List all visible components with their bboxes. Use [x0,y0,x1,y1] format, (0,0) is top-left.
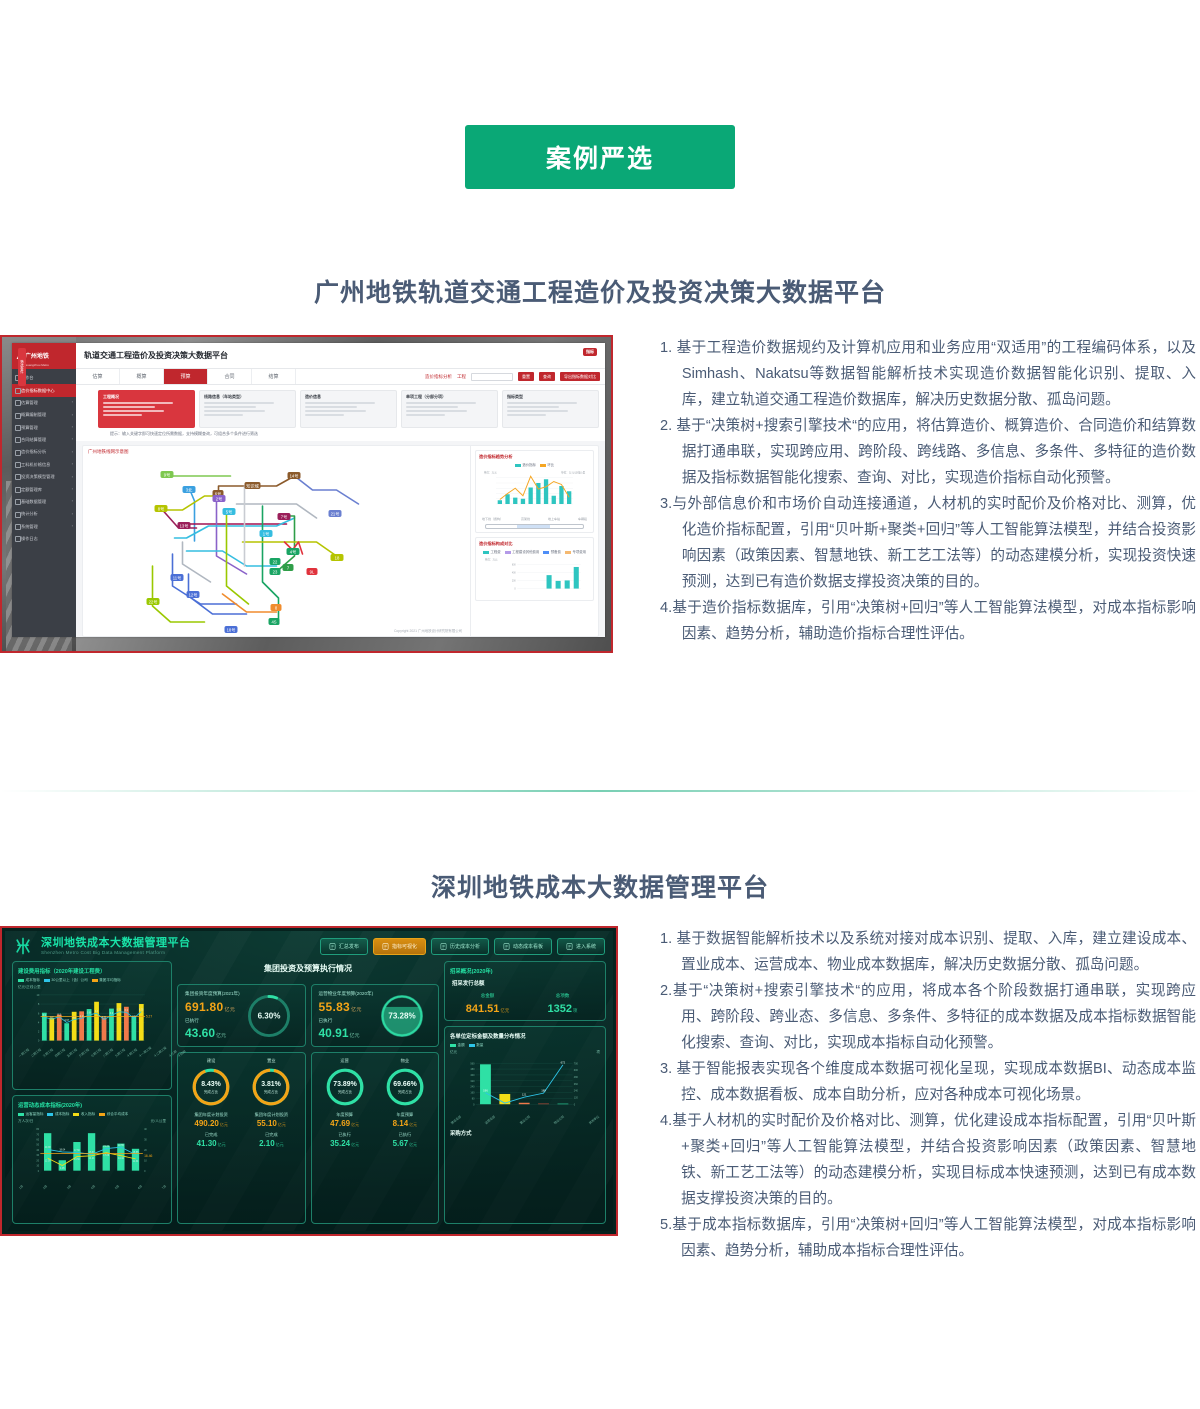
export-button[interactable]: 导出指标数据对比 [560,372,600,381]
guangzhou-platform-screenshot: ▲ 广州地铁 Guangzhou Metro 工作台造价指标数据中心估算管理›概… [0,335,613,653]
chart1-title: 造价指标趋势分析 [479,454,590,460]
svg-text:22.55: 22.55 [118,1145,125,1147]
gauge-group-operation: 运营73.89%完成占比年度预算47.69亿元已执行35.24亿元物业69.66… [311,1052,440,1224]
gauge-unit-1: 亿元 [409,1122,417,1127]
section2-bullet-4: 4.基于人材机的实时配价及价格对比、测算，优化建设成本指标配置，引用“贝叶斯+聚… [660,1108,1196,1212]
dash-chart3-legend-item-1: 数量 [469,1043,484,1048]
svg-text:9L: 9L [310,570,315,575]
svg-text:320: 320 [470,1080,475,1083]
progress-ring: 6.30% [246,993,292,1039]
dashboard-nav-1[interactable]: 指标可视化 [373,938,426,955]
chevron-right-icon: › [72,511,73,516]
dash-chart2-avg-label: 16.46 [144,1154,152,1158]
svg-text:6: 6 [38,1011,40,1015]
dashboard-nav-0[interactable]: 汇总发布 [320,938,368,955]
sidebar-item-label: 操作日志 [21,536,38,541]
gauge-label-1: 年度预算 [377,1112,433,1118]
sidebar-item-5[interactable]: 合同结算管理› [12,434,76,446]
dashboard-nav-label: 汇总发布 [339,943,359,950]
gauge-unit-2: 亿元 [218,1142,226,1147]
svg-text:18: 18 [335,556,340,561]
procurement-items: 总金额841.51亿元总项数1352项 [450,993,600,1015]
sidebar-item-label: 投资决策模型管理 [21,474,55,479]
svg-text:672: 672 [561,1060,566,1064]
kpi-text: 集团投资年度预算(2021年)691.80亿元已执行43.60亿元 [185,991,240,1040]
sidebar-item-6[interactable]: 造价指标分析› [12,446,76,458]
sidebar-item-label: 工料机价格信息 [21,462,50,467]
legend-swatch [47,1113,53,1116]
cost-trend-chart-card: 造价指标趋势分析 造价指标环比 单位：万元 单位：万元/正线公里 地下线（盾构）… [475,450,594,533]
gauge-cell-3: 物业69.66%完成占比年度预算8.14亿元已执行5.67亿元 [377,1058,433,1218]
chart1-scrollbar[interactable] [485,524,584,529]
app-header-title: 轨道交通工程造价及投资决策大数据平台 [84,350,228,361]
left-chart2-legend: 运客量指标成本指标收入指标综合平均成本 [18,1112,166,1117]
filter-card-title: 造价信息 [305,394,392,400]
svg-text:0: 0 [514,588,516,590]
gauge-label-1: 集团年度计划投资 [243,1112,299,1118]
svg-text:73.28%: 73.28% [388,1011,415,1020]
procurement-item-1: 总项数1352项 [525,993,600,1015]
legend-swatch [92,979,98,982]
filter-placeholder-line [204,406,256,408]
dashboard-root: 深圳地铁成本大数据管理平台 Shenzhen Metro Cost Big Da… [5,931,613,1231]
svg-text:知识城: 知识城 [246,483,259,490]
dashboard-nav-3[interactable]: 动态成本看板 [494,938,552,955]
dashboard-left-column: 建设费用指标（2020年建设工程费） 成本指标30公里以上（含）公司集团平均指标… [12,961,172,1224]
svg-text:73.89%: 73.89% [333,1081,356,1088]
gauge-name: 物业 [377,1058,433,1064]
chart1-xtick-1: 高架线 [521,517,530,521]
legend-swatch [540,464,546,467]
chart-column: 造价指标趋势分析 造价指标环比 单位：万元 单位：万元/正线公里 地下线（盾构）… [470,446,598,636]
operation-dynamic-cost-panel: 运营动态成本指标(2020年) 运客量指标成本指标收入指标综合平均成本 万人次/… [12,1095,172,1224]
gauge-value-1: 55.10亿元 [243,1119,299,1128]
svg-text:30: 30 [36,1154,39,1157]
section1-bullet-4: 4.基于造价指标数据库，引用“决策树+回归”等人工智能算法模型，对成本指标影响因… [660,595,1196,647]
dashboard-body: 建设费用指标（2020年建设工程费） 成本指标30公里以上（含）公司集团平均指标… [5,961,613,1231]
dash-chart2-xtick-6: 7月 [161,1184,167,1190]
sidebar-item-11[interactable]: 统计分析› [12,508,76,520]
dash-chart1-legend-item-1: 30公里以上（含）公司 [44,978,88,983]
tab-1[interactable]: 概算 [120,369,164,384]
filter-side-tab[interactable]: 筛选条件 [18,348,26,386]
dashboard-nav-label: 动态成本看板 [513,943,543,950]
chart1-legend-item-1: 环比 [540,462,554,467]
dash-chart2-legend-item-2: 收入指标 [73,1112,95,1117]
chart1-legend: 造价指标环比 [479,462,590,467]
filter-card-3[interactable]: 单项工程（分部分项） [401,390,498,428]
dashboard-nav[interactable]: 汇总发布指标可视化历史成本分析动态成本看板进入系统 [320,938,605,955]
sidebar-item-3[interactable]: 概算编制管理› [12,409,76,421]
chevron-right-icon: › [72,461,73,466]
filter-placeholder-line [204,414,243,416]
gauge-unit-2: 亿元 [276,1142,284,1147]
kpi-ring: 73.28% [379,993,425,1039]
legend-swatch [565,551,571,554]
gauge-unit-1: 亿元 [278,1122,286,1127]
dash-chart2-xtick-2: 3月 [66,1184,72,1190]
svg-text:6.30%: 6.30% [257,1011,280,1020]
logo-subtitle: Guangzhou Metro [25,363,49,367]
gauge-ring: 8.43%完成占比 [190,1066,232,1108]
gauge-ring: 69.66%完成占比 [384,1066,426,1108]
sidebar-item-label: 造价指标分析 [21,449,46,454]
dashboard-nav-label: 历史成本分析 [450,943,480,950]
legend-swatch [73,1113,79,1116]
svg-text:20: 20 [144,1149,147,1152]
svg-text:3.81%: 3.81% [262,1081,282,1088]
dash-chart2-legend-item-1: 成本指标 [47,1112,69,1117]
gauge-label-2: 已完成 [243,1132,299,1138]
gauge-label-2: 已执行 [377,1132,433,1138]
filter-placeholder-line [103,414,142,416]
section2-bullet-2: 2.基于“决策树+搜索引擎技术“的应用，将成本各个阶段数据打通串联，实现跨应用、… [660,978,1196,1056]
logo-name: 广州地铁 [25,354,49,360]
svg-text:480: 480 [470,1068,475,1071]
svg-text:600: 600 [574,1069,579,1072]
shenzhen-metro-logo-icon [13,936,33,956]
dash-chart2-xtick-3: 4月 [90,1184,96,1190]
svg-text:80: 80 [472,1097,475,1100]
section1-bullets: 1. 基于工程造价数据规约及计算机应用和业务应用“双适用”的工程编码体系，以及S… [660,335,1196,647]
section1-bullet-2: 2. 基于“决策树+搜索引擎技术“的应用，将估算造价、概算造价、合同造价和结算数… [660,413,1196,491]
sidebar-menu[interactable]: 工作台造价指标数据中心估算管理›概算编制管理›预算管理›合同结算管理›造价指标分… [12,369,76,545]
gauge-group-investment: 建设8.43%完成占比集团年度计划投资490.20亿元已完成41.30亿元置业3… [177,1052,306,1224]
svg-text:18.04: 18.04 [59,1150,66,1152]
gauge-cell-0: 建设8.43%完成占比集团年度计划投资490.20亿元已完成41.30亿元 [183,1058,239,1218]
chevron-right-icon: › [72,486,73,491]
svg-text:700: 700 [574,1062,579,1065]
svg-text:50: 50 [36,1144,39,1147]
filter-placeholder-line [507,406,559,408]
legend-swatch [515,464,521,467]
chevron-right-icon: › [72,523,73,528]
filter-placeholder-line [406,414,445,416]
造价-link[interactable]: 造价指标分析 [425,374,452,380]
kpi-value: 55.83亿元 [319,1000,374,1014]
kpi-row: 集团投资年度预算(2021年)691.80亿元已执行43.60亿元6.30%运营… [177,984,439,1047]
filter-placeholder-line [305,402,375,404]
query-button[interactable]: 查询 [539,372,555,381]
center-title: 集团投资及预算执行情况 [177,963,439,974]
left-chart1-legend: 成本指标30公里以上（含）公司集团平均指标 [18,978,166,983]
filter-card-2[interactable]: 造价信息 [300,390,397,428]
gauge-value-1: 8.14亿元 [377,1119,433,1128]
analysis-icon [440,943,447,950]
svg-text:22: 22 [273,560,278,565]
dashboard-middle-column: 集团投资及预算执行情况 集团投资年度预算(2021年)691.80亿元已执行43… [177,961,439,1224]
legend-swatch [543,551,549,554]
sidebar-item-7[interactable]: 工料机价格信息› [12,459,76,471]
filter-placeholder-line [406,410,467,412]
procurement-item-unit: 亿元 [500,1008,509,1013]
filter-placeholder-line [103,410,164,412]
gauge-value-1: 47.69亿元 [317,1119,373,1128]
second-link[interactable]: 工程 [457,374,466,380]
left-chart2-title: 运营动态成本指标(2020年) [18,1101,166,1109]
gauge-label-1: 集团年度计划投资 [183,1112,239,1118]
dashboard-nav-2[interactable]: 历史成本分析 [431,938,489,955]
sidebar-item-label: 估算管理 [21,400,38,405]
map-and-charts-card: 广州地铁线网示意图 [82,445,599,637]
dashboard-header: 深圳地铁成本大数据管理平台 Shenzhen Metro Cost Big Da… [5,931,613,961]
svg-text:23: 23 [273,570,278,575]
dash-chart2-xtick-1: 2月 [42,1184,48,1190]
chart2-legend-item-1: 工程建设其他费用 [505,549,540,554]
metro-network-map: 9号 3北 6号 知识城 14号 8号 13号 2号 5号 7号 1号 [83,446,470,636]
filter-placeholder-line [103,406,155,408]
right-chart-xticks: 建设总部运营总部置业公司物业公司其他单位 [450,1121,600,1126]
gauge-unit-2: 亿元 [351,1142,359,1147]
stage-tabs[interactable]: 估算概算预算合同结算造价指标分析工程重置查询导出指标数据对比 [76,369,605,385]
kpi-unit: 亿元 [225,1007,236,1013]
sidebar-item-9[interactable]: 定额管理库› [12,483,76,495]
left-chart1-xticks: 一期工程二期工程三期工程四期工程五期工程六期工程七期工程八期工程九期工程十期工程… [18,1054,166,1059]
filter-placeholder-line [507,402,577,404]
svg-text:6.35: 6.35 [139,1008,144,1011]
section2: 深圳地铁成本大数据管理平台 Shenzhen Metro Cost Big Da… [0,926,1200,1246]
badge-container: 案例严选 [0,0,1200,189]
chevron-right-icon: › [72,399,73,404]
sidebar-item-label: 预算管理 [21,425,38,430]
kpi-sub-value: 43.60亿元 [185,1026,240,1040]
dash-chart1-legend-item-2: 集团平均指标 [92,978,121,983]
progress-ring: 73.28% [379,993,425,1039]
left-chart1-title: 建设费用指标（2020年建设工程费） [18,967,166,975]
filter-card-1[interactable]: 线路信息（车站类型） [199,390,296,428]
chart2-plot: 单位：万元 6004002000 [479,556,590,592]
svg-text:完成占比: 完成占比 [398,1089,413,1094]
app-main: 轨道交通工程造价及投资决策大数据平台 指标 估算概算预算合同结算造价指标分析工程… [76,343,605,637]
chart1-xtick-0: 地下线（盾构） [482,517,503,521]
chart1-xticks: 地下线（盾构）高架线地上车站车辆段 [479,516,590,521]
gauge-label-2: 已执行 [317,1132,373,1138]
svg-text:400: 400 [512,572,516,574]
dashboard-nav-4[interactable]: 进入系统 [557,938,605,955]
sidebar-item-label: 系统管理 [21,524,38,529]
sidebar-item-10[interactable]: 基础数据管理› [12,496,76,508]
report-icon [329,943,336,950]
reset-button[interactable]: 重置 [518,372,534,381]
case-selection-badge: 案例严选 [465,125,735,189]
chevron-right-icon: › [72,436,73,441]
tab-0[interactable]: 估算 [76,369,120,384]
procurement-method-label: 采购方式 [450,1129,600,1137]
metro-map-area[interactable]: 广州地铁线网示意图 [83,446,470,636]
svg-text:4.61: 4.61 [102,1016,107,1019]
kpi-ring: 6.30% [246,993,292,1039]
chart1-plot: 单位：万元 单位：万元/正线公里 [479,469,590,511]
sidebar-item-13[interactable]: 操作日志 [12,533,76,545]
right-chart-plot: 5604804003202401608007006004803602401200… [450,1055,600,1119]
procurement-item-value: 1352项 [525,1003,600,1015]
search-input[interactable] [471,373,513,381]
procurement-title: 招采概况(2020年) [450,967,600,975]
legend-swatch [505,551,511,554]
svg-text:17.50: 17.50 [74,1150,81,1152]
svg-text:15.67: 15.67 [89,1152,96,1154]
kpi-label: 集团投资年度预算(2021年) [185,991,240,997]
svg-text:15.55: 15.55 [133,1152,140,1154]
section1-bullet-3: 3.与外部信息价和市场价自动连接通道，人材机的实时配价及价格对比、测算，优化造价… [660,491,1196,595]
chart1-xtick-3: 车辆段 [578,517,587,521]
sidebar-item-2[interactable]: 估算管理› [12,397,76,409]
svg-text:0: 0 [38,1039,40,1043]
shenzhen-dashboard-screenshot: 深圳地铁成本大数据管理平台 Shenzhen Metro Cost Big Da… [0,926,618,1236]
kpi-box-0: 集团投资年度预算(2021年)691.80亿元已执行43.60亿元6.30% [177,984,306,1047]
sidebar-item-label: 造价指标数据中心 [21,388,55,393]
svg-text:17.29: 17.29 [103,1155,110,1157]
dash-chart2-xtick-4: 5月 [114,1184,120,1190]
sidebar-item-1[interactable]: 造价指标数据中心 [12,384,76,396]
tab-3[interactable]: 合同 [208,369,252,384]
gauge-cell-2: 运营73.89%完成占比年度预算47.69亿元已执行35.24亿元 [317,1058,373,1218]
procurement-item-0: 总金额841.51亿元 [450,993,525,1015]
gauge-row: 建设8.43%完成占比集团年度计划投资490.20亿元已完成41.30亿元置业3… [177,1052,439,1224]
svg-text:360: 360 [574,1083,579,1086]
svg-text:4.95: 4.95 [60,1168,65,1170]
svg-text:14.44: 14.44 [118,1158,125,1160]
dash-chart2-legend-item-0: 运客量指标 [18,1112,43,1117]
kpi-label: 运营物业年度预算(2020年) [319,991,374,997]
sidebar-item-label: 基础数据管理 [21,499,46,504]
chart2-title: 造价指标构成对比 [479,541,590,547]
svg-text:30: 30 [144,1139,147,1142]
dash-chart1-avg-label: 5.27 [146,1015,153,1019]
chevron-right-icon: › [72,412,73,417]
svg-text:完成占比: 完成占比 [204,1089,219,1094]
filter-placeholder-line [305,406,357,408]
kpi-value: 691.80亿元 [185,1000,240,1014]
svg-text:0: 0 [473,1103,475,1106]
dashboard-brand-en: Shenzhen Metro Cost Big Data Management … [41,950,191,955]
chevron-right-icon: › [72,474,73,479]
app-header: 轨道交通工程造价及投资决策大数据平台 指标 [76,343,605,369]
chart2-legend-item-3: 专项费用 [565,549,586,554]
chart1-xtick-2: 地上车站 [548,517,560,521]
right-chart-legend: 金额数量 [450,1043,600,1048]
svg-text:20.38: 20.38 [45,1147,52,1149]
svg-text:240: 240 [574,1090,579,1093]
chevron-right-icon: › [72,498,73,503]
sidebar-item-label: 概算编制管理 [21,412,46,417]
cost-composition-chart-card: 造价指标构成对比 工程费工程建设其他费用预备费专项费用 单位：万元 600400… [475,537,594,601]
chart1-ylabel-right: 单位：万元/正线公里 [561,470,586,474]
dash-chart2-xtick-5: 6月 [137,1184,143,1190]
svg-text:20: 20 [36,1159,39,1162]
sidebar-item-label: 合同结算管理 [21,437,46,442]
procurement-item-label: 总项数 [525,993,600,999]
svg-text:80: 80 [36,1128,39,1131]
svg-text:69.66%: 69.66% [393,1081,416,1088]
procurement-subtitle: 招采发行总额 [452,979,600,987]
svg-text:10: 10 [144,1159,147,1162]
gauge-label-1: 年度预算 [317,1112,373,1118]
svg-text:160: 160 [470,1092,475,1095]
svg-text:4: 4 [38,1020,40,1024]
svg-text:196: 196 [483,1088,488,1092]
sidebar-item-8[interactable]: 投资决策模型管理› [12,471,76,483]
filter-card-0[interactable]: 工程概况 [98,390,195,428]
sidebar-item-4[interactable]: 预算管理› [12,422,76,434]
gauge-value-2: 35.24亿元 [317,1139,373,1148]
filter-placeholder-line [305,410,366,412]
gauge-value-2: 5.67亿元 [377,1139,433,1148]
gauge-value-2: 41.30亿元 [183,1139,239,1148]
dash-chart2-legend-item-3: 综合平均成本 [99,1112,128,1117]
section-divider [0,790,1200,792]
legend-swatch [99,1113,105,1116]
legend-swatch [483,551,489,554]
filter-card-4[interactable]: 指标类型 [502,390,599,428]
kpi-box-1: 运营物业年度预算(2020年)55.83亿元已执行40.91亿元73.28% [311,984,440,1047]
legend-swatch [450,1044,456,1047]
procurement-item-label: 总金额 [450,993,525,999]
kpi-sub-unit: 亿元 [216,1033,226,1039]
filter-placeholder-line [103,402,173,404]
svg-text:120: 120 [574,1096,579,1099]
kpi-unit: 亿元 [351,1007,362,1013]
svg-text:10: 10 [36,993,39,997]
svg-text:40: 40 [144,1128,147,1131]
tab-toolbar[interactable]: 造价指标分析工程重置查询导出指标数据对比 [425,369,605,384]
filter-card-row[interactable]: 筛选条件工程概况线路信息（车站类型）造价信息单项工程（分部分项）指标类型 [76,385,605,431]
gauge-value-2: 2.10亿元 [243,1139,299,1148]
section2-bullets: 1. 基于数据智能解析技术以及系统对接对成本识别、提取、入库，建立建设成本、置业… [660,926,1196,1264]
svg-text:21.21: 21.21 [103,1146,110,1148]
svg-text:200: 200 [512,580,516,582]
gauge-ring: 73.89%完成占比 [324,1066,366,1108]
sidebar-item-label: 定额管理库 [21,487,42,492]
gauge-label-2: 已完成 [183,1132,239,1138]
chart1-ylabel-left: 单位：万元 [484,470,497,474]
section2-title: 深圳地铁成本大数据管理平台 [0,868,1200,904]
filter-placeholder-line [406,406,458,408]
dashboard-right-column: 招采概况(2020年) 招采发行总额 总金额841.51亿元总项数1352项 各… [444,961,606,1224]
map-title: 广州地铁线网示意图 [88,449,129,455]
svg-text:12.00: 12.00 [45,1161,52,1163]
legend-swatch [469,1044,475,1047]
chart1-legend-item-0: 造价指标 [515,462,536,467]
gauge-unit-1: 亿元 [351,1122,359,1127]
kpi-sub-label: 已执行 [319,1018,374,1024]
svg-text:0: 0 [38,1170,40,1173]
dashboard-nav-label: 指标可视化 [392,943,417,950]
section1-title: 广州地铁轨道交通工程造价及投资决策大数据平台 [0,273,1200,309]
bid-distribution-panel: 各单位定标金额及数量分布情况 金额数量 亿元 项 560480400320240… [444,1026,606,1224]
tab-4[interactable]: 结算 [252,369,296,384]
svg-text:560: 560 [470,1062,475,1065]
copyright-text: Copyright 2021 广州地铁设计研究院有限公司 [394,628,462,633]
filter-placeholder-line [507,410,568,412]
sidebar-item-12[interactable]: 系统管理› [12,521,76,533]
tab-2[interactable]: 预算 [164,369,208,384]
svg-text:10: 10 [36,1165,39,1168]
svg-text:189: 189 [541,1089,546,1093]
board-icon [503,943,510,950]
svg-text:8.43%: 8.43% [201,1081,221,1088]
svg-text:400: 400 [470,1074,475,1077]
gauge-cell-1: 置业3.81%完成占比集团年度计划投资55.10亿元已完成2.10亿元 [243,1058,299,1218]
chevron-right-icon: › [72,424,73,429]
dash-chart1-legend-item-0: 成本指标 [18,978,40,983]
dashboard-nav-label: 进入系统 [576,943,596,950]
svg-text:8: 8 [38,1002,40,1006]
filter-card-title: 单项工程（分部分项） [406,394,493,400]
legend-swatch [18,1113,24,1116]
svg-text:6.33: 6.33 [117,1008,122,1011]
kpi-text: 运营物业年度预算(2020年)55.83亿元已执行40.91亿元 [319,991,374,1040]
